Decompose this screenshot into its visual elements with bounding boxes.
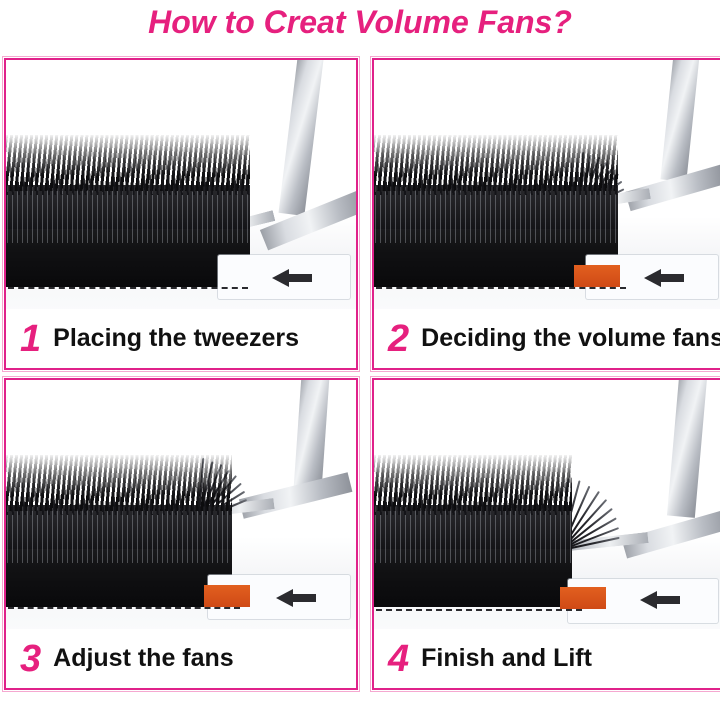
step-panel-1: 1 Placing the tweezers	[4, 58, 358, 370]
step-2-label: Deciding the volume fans	[421, 326, 720, 351]
step-2-photo	[374, 60, 720, 313]
step-3-label: Adjust the fans	[53, 646, 234, 671]
step-panel-2: 2 Deciding the volume fans	[372, 58, 720, 370]
lash-tips-overlay	[374, 467, 572, 515]
volume-fan-icon	[560, 476, 668, 550]
perforation-line	[8, 287, 248, 289]
lash-tips-overlay	[6, 467, 232, 515]
step-4-label: Finish and Lift	[421, 646, 592, 671]
orange-marker-icon	[204, 585, 250, 607]
step-panel-3: 3 Adjust the fans	[4, 378, 358, 690]
arrow-left-icon	[276, 589, 316, 607]
perforation-line	[376, 287, 626, 289]
arrow-shaft	[292, 594, 316, 602]
arrow-head	[644, 269, 661, 287]
step-1-label: Placing the tweezers	[53, 326, 299, 351]
step-4-caption: 4 Finish and Lift	[374, 629, 720, 688]
step-1-photo	[6, 60, 356, 313]
step-3-number: 3	[20, 640, 41, 678]
arrow-shaft	[660, 274, 684, 282]
page-title: How to Creat Volume Fans?	[0, 4, 720, 41]
lash-strip-icon	[6, 137, 250, 287]
perforation-line	[376, 609, 582, 611]
orange-marker-icon	[560, 587, 606, 609]
step-4-photo	[374, 380, 720, 633]
step-2-number: 2	[388, 320, 409, 358]
steps-grid: 1 Placing the tweezers	[0, 56, 720, 720]
arrow-head	[272, 269, 289, 287]
step-panel-4: 4 Finish and Lift	[372, 378, 720, 690]
step-1-number: 1	[20, 320, 41, 358]
arrow-shaft	[656, 596, 680, 604]
lash-strip-icon	[374, 457, 572, 607]
arrow-shaft	[288, 274, 312, 282]
arrow-head	[640, 591, 657, 609]
orange-marker-icon	[574, 265, 620, 287]
step-3-photo	[6, 380, 356, 633]
step-2-caption: 2 Deciding the volume fans	[374, 309, 720, 368]
step-4-number: 4	[388, 640, 409, 678]
step-1-caption: 1 Placing the tweezers	[6, 309, 356, 368]
arrow-left-icon	[640, 591, 680, 609]
perforation-line	[8, 607, 240, 609]
step-3-caption: 3 Adjust the fans	[6, 629, 356, 688]
arrow-left-icon	[272, 269, 312, 287]
arrow-head	[276, 589, 293, 607]
lash-strip-icon	[6, 457, 232, 607]
lash-tips-overlay	[374, 147, 618, 195]
arrow-left-icon	[644, 269, 684, 287]
lash-tips-overlay	[6, 147, 250, 195]
